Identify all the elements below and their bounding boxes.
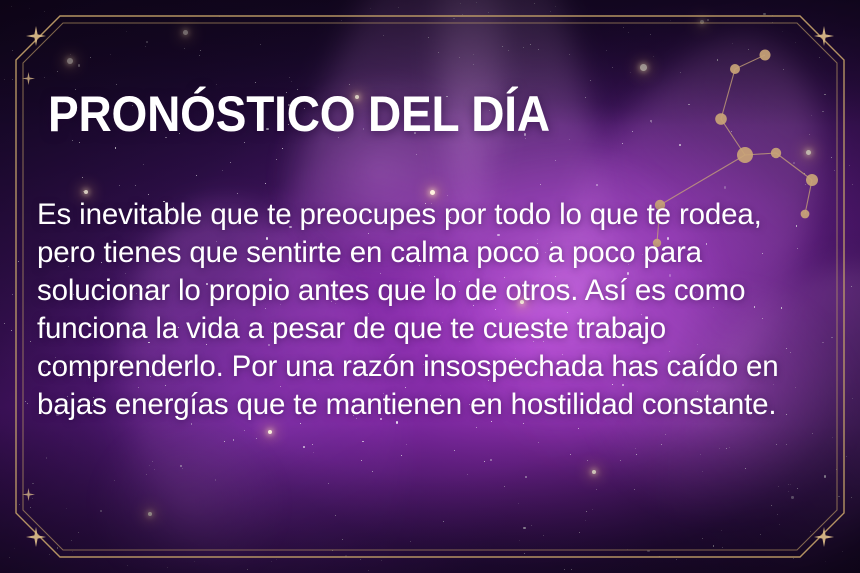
star — [727, 213, 728, 214]
star — [810, 531, 811, 532]
star — [497, 234, 499, 236]
star — [407, 99, 409, 101]
star — [288, 104, 290, 106]
star — [342, 539, 343, 540]
page-title: PRONÓSTICO DEL DÍA — [48, 86, 550, 142]
star — [822, 342, 824, 344]
star — [82, 177, 83, 178]
star — [647, 550, 649, 552]
star — [68, 266, 69, 267]
star — [119, 185, 120, 186]
star — [173, 207, 174, 208]
star — [504, 486, 505, 487]
constellation-icon — [0, 0, 860, 573]
star — [650, 120, 652, 122]
star — [713, 545, 715, 547]
star — [511, 117, 512, 118]
star — [467, 474, 468, 475]
star — [42, 222, 43, 223]
star — [56, 414, 58, 416]
star — [669, 274, 671, 276]
star — [307, 245, 308, 246]
star — [702, 471, 703, 472]
star — [688, 104, 690, 106]
star — [476, 427, 477, 428]
star — [523, 47, 524, 48]
star — [469, 404, 470, 405]
star — [53, 335, 54, 336]
star — [25, 401, 26, 402]
star — [266, 128, 268, 130]
star — [219, 326, 220, 327]
star — [812, 433, 813, 434]
star — [368, 233, 369, 234]
starfield-icon — [0, 0, 860, 573]
star — [641, 314, 642, 315]
star — [569, 54, 570, 55]
star — [570, 454, 571, 455]
star — [501, 319, 502, 320]
glowing-star — [806, 150, 811, 155]
star — [428, 217, 429, 218]
star — [751, 375, 752, 376]
star — [89, 377, 90, 378]
star — [231, 332, 232, 333]
star — [578, 428, 579, 429]
star — [717, 59, 719, 61]
star — [222, 170, 223, 171]
glowing-star — [268, 430, 272, 434]
star — [515, 358, 516, 359]
star — [4, 323, 5, 324]
star — [72, 551, 73, 552]
star — [138, 387, 139, 388]
star — [596, 184, 598, 186]
star — [454, 450, 455, 451]
glowing-star — [640, 64, 647, 71]
star — [771, 505, 772, 506]
star — [612, 67, 613, 68]
gold-frame-icon — [0, 0, 860, 573]
star — [206, 283, 208, 285]
star — [849, 165, 850, 166]
star — [165, 137, 167, 139]
star — [254, 248, 255, 249]
star — [628, 32, 629, 33]
star — [525, 476, 527, 478]
star — [381, 369, 382, 370]
star — [78, 64, 80, 66]
star — [12, 79, 14, 81]
star — [702, 538, 703, 539]
light-beam — [240, 0, 550, 445]
star — [442, 322, 443, 323]
star — [234, 319, 235, 320]
star — [154, 469, 155, 470]
star — [488, 12, 489, 13]
star — [62, 102, 63, 103]
star — [101, 262, 102, 263]
star — [206, 344, 207, 345]
star — [518, 503, 519, 504]
star — [272, 221, 273, 222]
star — [289, 226, 291, 228]
light-beams — [0, 0, 860, 573]
star — [328, 483, 329, 484]
star — [631, 214, 633, 216]
star — [788, 484, 789, 485]
star — [167, 567, 168, 568]
star — [353, 415, 354, 416]
star — [318, 379, 319, 380]
star — [244, 430, 245, 431]
star — [440, 412, 441, 413]
glowing-star — [183, 30, 188, 35]
horoscope-body-text: Es inevitable que te preocupes por todo … — [37, 196, 827, 424]
star — [523, 423, 524, 424]
star — [221, 402, 222, 403]
star — [670, 20, 671, 21]
star — [459, 281, 460, 282]
star — [719, 448, 720, 449]
star — [260, 44, 261, 45]
horoscope-card: PRONÓSTICO DEL DÍA Es inevitable que te … — [0, 0, 860, 573]
star — [632, 332, 633, 333]
star — [763, 13, 765, 15]
star — [4, 79, 5, 80]
vignette-overlay — [0, 0, 860, 573]
star — [332, 550, 333, 551]
star — [726, 448, 727, 449]
star — [676, 559, 677, 560]
star — [625, 256, 626, 257]
star — [525, 138, 526, 139]
star — [368, 313, 369, 314]
star — [811, 115, 812, 116]
sparkle-icon — [22, 488, 35, 501]
star — [145, 46, 146, 47]
star — [651, 122, 652, 123]
star — [590, 80, 591, 81]
star — [786, 444, 787, 445]
star — [368, 570, 369, 571]
star — [695, 292, 696, 293]
star — [110, 54, 111, 55]
star — [406, 444, 407, 445]
star — [200, 50, 201, 51]
star — [361, 460, 362, 461]
star — [410, 282, 411, 283]
star — [18, 261, 19, 262]
star — [396, 421, 398, 423]
star — [288, 124, 289, 125]
star — [804, 173, 805, 174]
light-beam — [615, 219, 860, 573]
star — [524, 133, 526, 135]
star — [271, 561, 272, 562]
sparkle-icon — [814, 527, 834, 547]
star — [852, 398, 853, 399]
star — [148, 342, 150, 344]
star — [194, 561, 195, 562]
star — [255, 82, 256, 83]
star — [280, 386, 281, 387]
star — [93, 397, 94, 398]
star — [786, 414, 787, 415]
star — [345, 555, 347, 557]
star — [182, 468, 183, 469]
star — [9, 557, 10, 558]
star — [304, 108, 305, 109]
star — [791, 496, 793, 498]
star — [530, 44, 531, 45]
star — [216, 84, 217, 85]
star — [592, 509, 593, 510]
star — [851, 497, 852, 498]
glowing-star — [84, 190, 88, 194]
star — [115, 147, 117, 149]
star — [66, 508, 67, 509]
star — [196, 361, 197, 362]
star — [127, 565, 129, 567]
star — [380, 273, 381, 274]
glowing-star — [67, 58, 73, 64]
star — [40, 363, 41, 364]
star — [356, 335, 357, 336]
star — [706, 243, 708, 245]
star — [300, 423, 301, 424]
star — [661, 223, 662, 224]
star — [234, 98, 235, 99]
star — [224, 441, 225, 442]
star — [11, 330, 13, 332]
star — [286, 92, 287, 93]
star — [152, 461, 153, 462]
star — [341, 20, 342, 21]
star — [551, 242, 552, 243]
star — [30, 341, 31, 342]
star — [819, 57, 820, 58]
star — [201, 255, 203, 257]
star — [338, 137, 339, 138]
light-beam — [404, 0, 646, 478]
star — [381, 560, 382, 561]
star — [19, 504, 20, 505]
star — [790, 352, 791, 353]
star — [587, 460, 588, 461]
star — [776, 444, 777, 445]
star — [495, 309, 496, 310]
star — [297, 89, 298, 90]
star — [537, 243, 538, 244]
glowing-star — [355, 95, 359, 99]
star — [523, 527, 525, 529]
star — [473, 305, 474, 306]
star — [571, 569, 572, 570]
star — [569, 139, 570, 140]
star — [805, 184, 806, 185]
star — [268, 344, 270, 346]
star — [628, 264, 629, 265]
star — [196, 175, 197, 176]
star — [416, 154, 417, 155]
star — [356, 418, 357, 419]
star — [313, 452, 314, 453]
star — [73, 294, 74, 295]
star — [797, 248, 798, 249]
star — [722, 547, 723, 548]
star — [543, 535, 544, 536]
star — [508, 50, 509, 51]
star — [795, 42, 796, 43]
star — [824, 475, 826, 477]
star — [100, 510, 102, 512]
body-line: pero tienes que sentirte en calma poco a… — [37, 234, 827, 272]
star — [831, 337, 833, 339]
star — [824, 94, 826, 96]
star — [192, 219, 193, 220]
star — [491, 421, 492, 422]
star — [46, 326, 47, 327]
star — [540, 184, 541, 185]
star — [71, 540, 72, 541]
star — [515, 323, 516, 324]
star — [586, 511, 587, 512]
star — [425, 203, 426, 204]
star — [383, 393, 384, 394]
star — [149, 465, 150, 466]
star — [762, 318, 763, 319]
body-line: funciona la vida a pesar de que te cuest… — [37, 310, 827, 348]
star — [825, 561, 826, 562]
star — [535, 257, 536, 258]
star — [731, 131, 732, 132]
star — [623, 27, 624, 28]
star — [233, 439, 235, 441]
sparkle-icon — [26, 527, 46, 547]
glowing-star — [700, 20, 704, 24]
star — [622, 143, 623, 144]
star — [567, 312, 568, 313]
star — [428, 37, 429, 38]
star — [797, 488, 798, 489]
star — [372, 471, 373, 472]
body-line: Es inevitable que te preocupes por todo … — [37, 196, 827, 234]
star — [256, 438, 257, 439]
star — [116, 84, 117, 85]
star — [280, 304, 281, 305]
star — [579, 532, 580, 533]
star — [178, 327, 179, 328]
star — [216, 241, 217, 242]
star — [117, 367, 118, 368]
star — [180, 465, 182, 467]
star — [555, 276, 556, 277]
star — [653, 56, 654, 57]
star — [564, 569, 565, 570]
star — [423, 364, 424, 365]
star — [622, 384, 624, 386]
star — [712, 359, 713, 360]
body-line: comprenderlo. Por una razón insospechada… — [37, 348, 827, 386]
star — [167, 213, 169, 215]
star — [148, 194, 149, 195]
star — [822, 111, 824, 113]
star — [502, 46, 503, 47]
star — [567, 297, 568, 298]
glowing-star — [148, 512, 152, 516]
star — [642, 254, 643, 255]
star — [779, 524, 780, 525]
star — [519, 540, 520, 541]
star — [380, 418, 382, 420]
star — [783, 69, 784, 70]
star — [93, 362, 94, 363]
star — [707, 19, 709, 21]
star — [460, 3, 461, 4]
star — [304, 100, 305, 101]
star — [304, 370, 305, 371]
star — [661, 444, 662, 445]
star — [606, 50, 607, 51]
star — [163, 201, 165, 203]
star — [237, 193, 238, 194]
star — [772, 22, 773, 23]
star — [635, 448, 636, 449]
star — [538, 442, 539, 443]
star — [349, 84, 351, 86]
star — [30, 507, 31, 508]
star — [78, 532, 79, 533]
glowing-star — [430, 190, 435, 195]
star — [778, 486, 779, 487]
star — [75, 89, 76, 90]
star — [782, 31, 783, 32]
star — [772, 15, 773, 16]
star — [378, 216, 379, 217]
star — [326, 105, 327, 106]
star — [550, 11, 551, 12]
star — [303, 446, 305, 448]
star — [184, 48, 185, 49]
star — [146, 474, 147, 475]
body-line: bajas energías que te mantienen en hosti… — [37, 386, 827, 424]
background-gradient — [0, 0, 860, 573]
star — [276, 559, 277, 560]
star — [44, 77, 45, 78]
glowing-star — [592, 470, 596, 474]
star — [659, 556, 660, 557]
star — [401, 455, 402, 456]
star — [150, 376, 151, 377]
star — [781, 307, 783, 309]
star — [363, 128, 365, 130]
star — [435, 107, 436, 108]
star — [11, 6, 12, 7]
star — [191, 423, 193, 425]
star — [842, 551, 843, 552]
star — [70, 54, 71, 55]
star — [504, 277, 505, 278]
star — [721, 530, 722, 531]
star — [388, 370, 389, 371]
star — [832, 437, 833, 438]
star — [271, 322, 272, 323]
star — [312, 444, 314, 446]
star — [630, 72, 631, 73]
star — [534, 3, 535, 4]
star — [796, 225, 798, 227]
